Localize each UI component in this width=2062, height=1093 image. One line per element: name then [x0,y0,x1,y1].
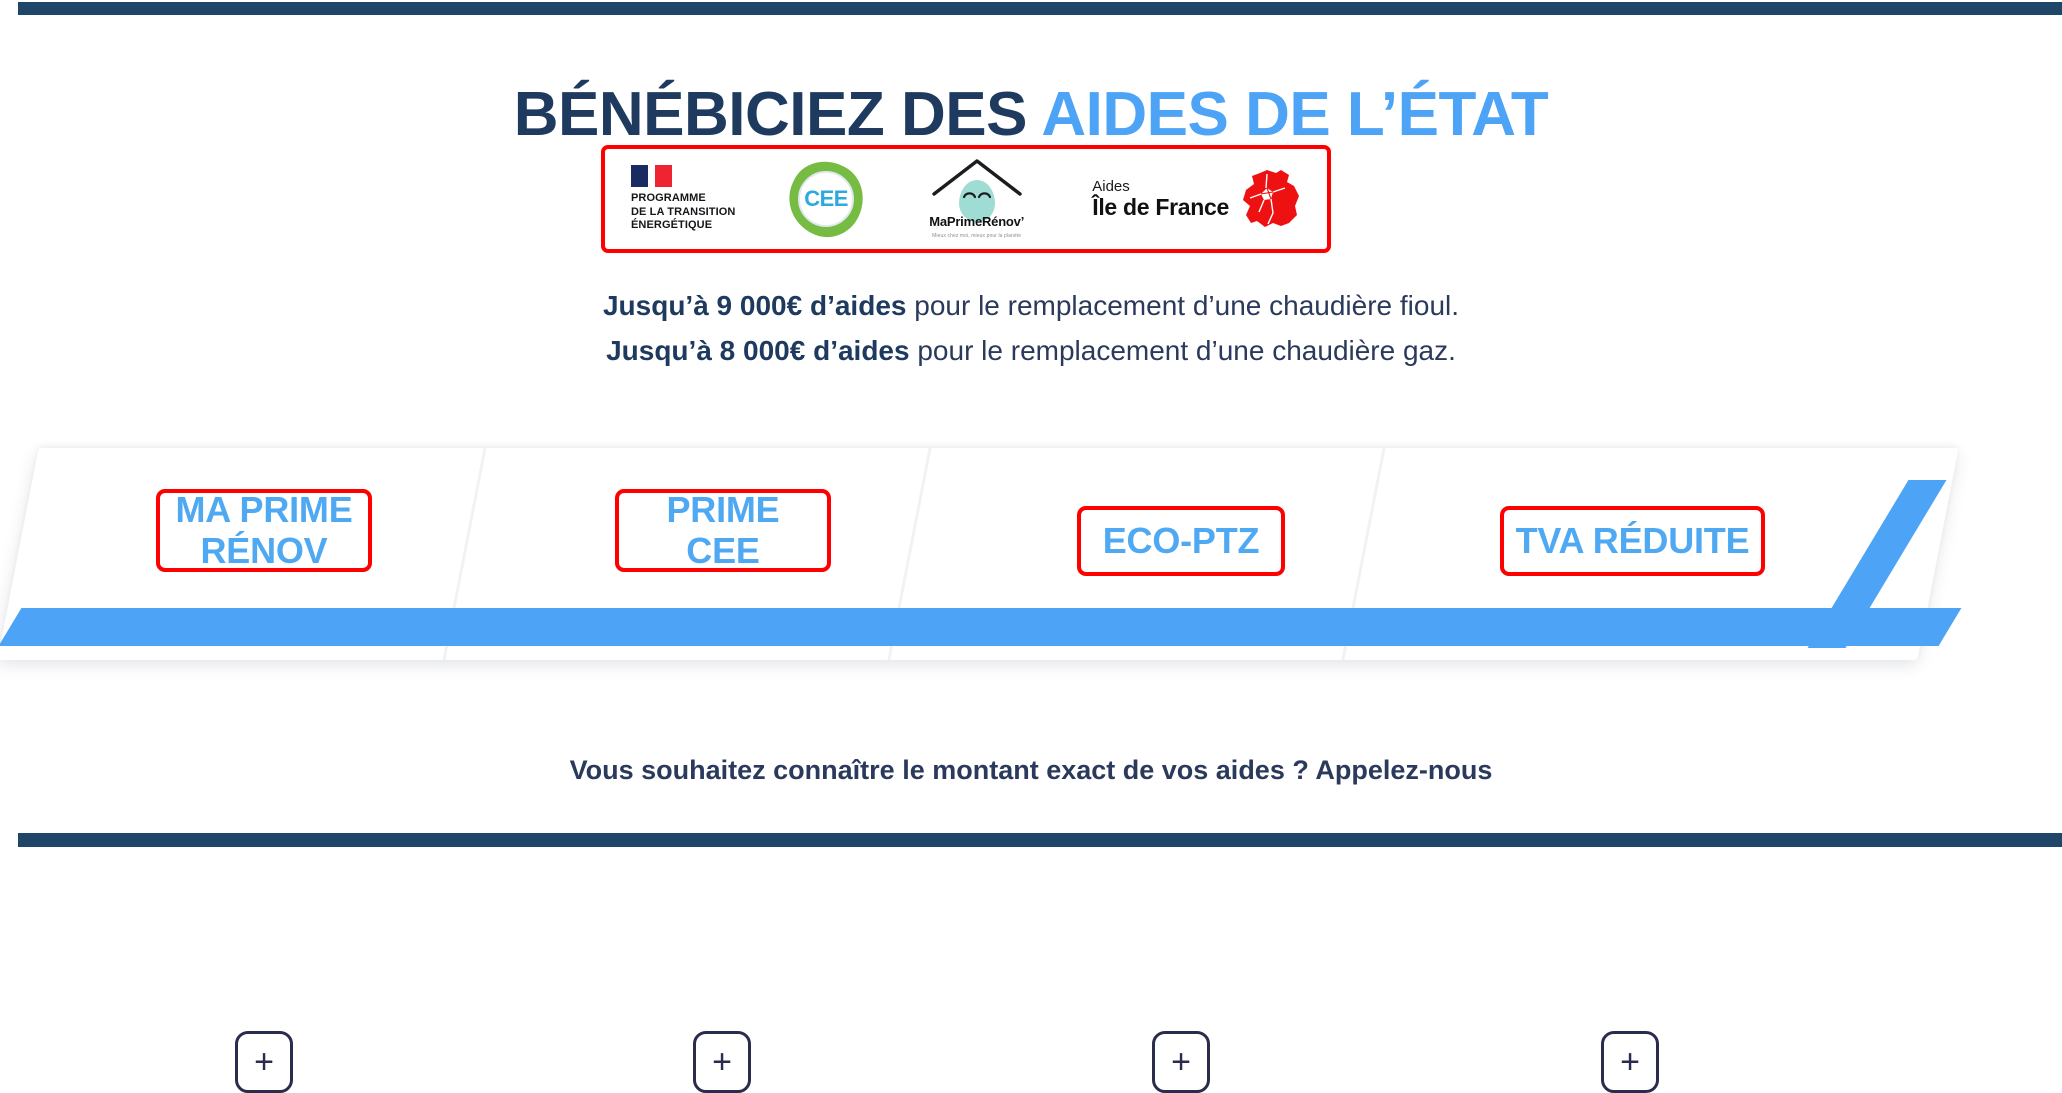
certification-logo-strip: PROGRAMME DE LA TRANSITION ÉNERGÉTIQUE C… [601,145,1331,253]
logo-cee: CEE [791,149,861,249]
aides-line-fioul-amount: Jusqu’à 9 000€ d’aides [603,290,907,321]
aides-line-gaz: Jusqu’à 8 000€ d’aides pour le remplacem… [0,328,2062,373]
expand-button-tva-reduite[interactable]: + [1601,1031,1659,1093]
page-title-part1: BÉNÉBICIEZ DES [514,80,1042,149]
expand-button-eco-ptz[interactable]: + [1152,1031,1210,1093]
aides-summary: Jusqu’à 9 000€ d’aides pour le remplacem… [0,283,2062,374]
logo-idf-line2: Île de France [1092,195,1229,219]
expand-button-ma-prime-renov[interactable]: + [235,1031,293,1093]
renov-eyes-icon [962,188,992,200]
logo-maprimerenov-label: MaPrimeRénov’ [917,214,1037,229]
aid-card-ma-prime-renov-label-line2: RÉNOV [200,530,327,571]
aides-line-gaz-amount: Jusqu’à 8 000€ d’aides [606,335,910,366]
aid-card-prime-cee[interactable]: PRIME CEE [615,489,831,572]
aid-card-eco-ptz[interactable]: ECO-PTZ [1077,506,1285,576]
page-title: BÉNÉBICIEZ DES AIDES DE L’ÉTAT [0,84,2062,146]
aid-card-prime-cee-label-line1: PRIME [666,489,779,530]
aid-card-tva-reduite[interactable]: TVA RÉDUITE [1500,506,1765,576]
page-title-part2: AIDES DE L’ÉTAT [1041,80,1548,149]
blue-accent-bar [0,608,1961,646]
aid-card-ma-prime-renov-label-line1: MA PRIME [175,489,352,530]
logo-programme-line1: PROGRAMME [631,192,735,205]
logo-maprimerenov: MaPrimeRénov’ Mieux chez moi, mieux pour… [917,149,1037,249]
bottom-accent-bar [18,833,2062,847]
aid-card-tva-reduite-label: TVA RÉDUITE [1516,521,1750,561]
logo-programme-line3: ÉNERGÉTIQUE [631,219,735,232]
logo-programme-line2: DE LA TRANSITION [631,206,735,219]
french-flag-icon [631,165,735,187]
aides-line-gaz-rest: pour le remplacement d’une chaudière gaz… [910,335,1456,366]
aides-line-fioul-rest: pour le remplacement d’une chaudière fio… [906,290,1459,321]
contact-cta-text: Vous souhaitez connaître le montant exac… [0,755,2062,786]
logo-idf-line1: Aides [1092,179,1229,195]
ile-de-france-map-icon [1237,168,1301,230]
aid-card-prime-cee-label-line2: CEE [686,530,759,571]
aid-card-ma-prime-renov[interactable]: MA PRIME RÉNOV [156,489,372,572]
aid-card-eco-ptz-label: ECO-PTZ [1103,521,1260,561]
logo-cee-label: CEE [804,188,848,210]
aides-line-fioul: Jusqu’à 9 000€ d’aides pour le remplacem… [0,283,2062,328]
aid-card-ma-prime-renov-label: MA PRIME RÉNOV [175,490,352,571]
logo-programme-transition-energetique: PROGRAMME DE LA TRANSITION ÉNERGÉTIQUE [631,149,735,249]
aid-card-prime-cee-label: PRIME CEE [666,490,779,571]
top-accent-bar [18,2,2062,15]
aid-cards-stage: MA PRIME RÉNOV + PRIME CEE + ECO-PTZ + T… [0,440,2062,670]
logo-aides-ile-de-france: Aides Île de France [1092,149,1301,249]
expand-button-prime-cee[interactable]: + [693,1031,751,1093]
logo-programme-text: PROGRAMME DE LA TRANSITION ÉNERGÉTIQUE [631,192,735,232]
logo-maprimerenov-tagline: Mieux chez moi, mieux pour la planète [917,233,1037,239]
